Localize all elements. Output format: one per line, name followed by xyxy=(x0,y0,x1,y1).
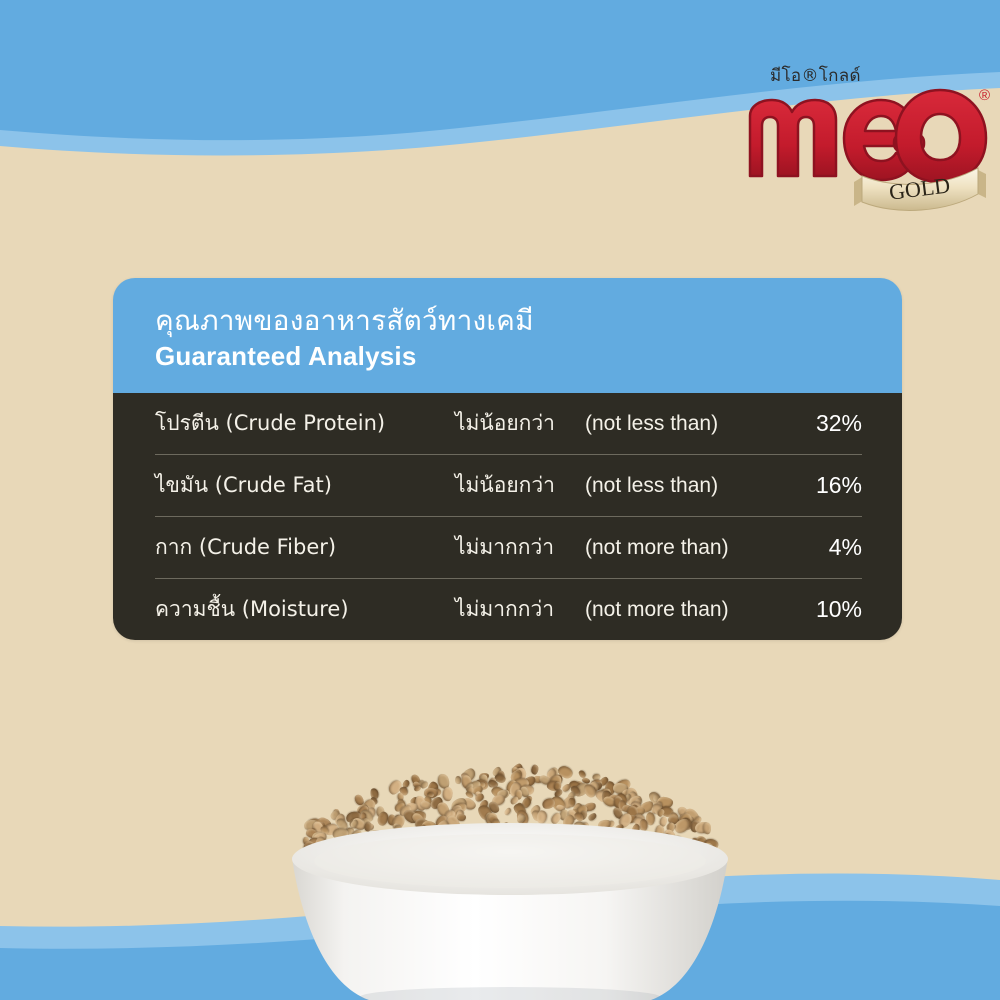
pet-food-bowl-image xyxy=(250,745,770,1000)
guaranteed-analysis-card: คุณภาพของอาหารสัตว์ทางเคมี Guaranteed An… xyxy=(113,278,902,640)
nutrient-name: ไขมัน (Crude Fat) xyxy=(155,469,455,502)
qualifier-thai: ไม่น้อยกว่า xyxy=(455,469,585,502)
nutrient-value: 16% xyxy=(782,472,862,499)
nutrient-name: กาก (Crude Fiber) xyxy=(155,531,455,564)
nutrient-value: 10% xyxy=(782,596,862,623)
nutrient-name: โปรตีน (Crude Protein) xyxy=(155,407,455,440)
nutrient-value: 32% xyxy=(782,410,862,437)
poster-canvas: มีโอ®โกลด์ ® xyxy=(0,0,1000,1000)
nutrient-name: ความชื้น (Moisture) xyxy=(155,593,455,626)
qualifier-thai: ไม่มากกว่า xyxy=(455,531,585,564)
registered-mark-icon: ® xyxy=(979,88,990,103)
nutrient-value: 4% xyxy=(782,534,862,561)
qualifier-thai: ไม่มากกว่า xyxy=(455,593,585,626)
product-photo xyxy=(250,745,770,1000)
qualifier-english: (not less than) xyxy=(585,474,782,498)
brand-logo: มีโอ®โกลด์ ® xyxy=(742,62,992,222)
qualifier-english: (not less than) xyxy=(585,412,782,436)
qualifier-english: (not more than) xyxy=(585,536,782,560)
card-title-thai: คุณภาพของอาหารสัตว์ทางเคมี xyxy=(155,304,902,338)
card-header: คุณภาพของอาหารสัตว์ทางเคมี Guaranteed An… xyxy=(113,278,902,393)
table-row: ความชื้น (Moisture) ไม่มากกว่า (not more… xyxy=(155,579,862,640)
table-row: ไขมัน (Crude Fat) ไม่น้อยกว่า (not less … xyxy=(155,455,862,517)
analysis-table: โปรตีน (Crude Protein) ไม่น้อยกว่า (not … xyxy=(113,393,902,640)
qualifier-thai: ไม่น้อยกว่า xyxy=(455,407,585,440)
card-title-english: Guaranteed Analysis xyxy=(155,340,902,372)
table-row: กาก (Crude Fiber) ไม่มากกว่า (not more t… xyxy=(155,517,862,579)
gold-ribbon-banner: GOLD xyxy=(850,160,990,218)
table-row: โปรตีน (Crude Protein) ไม่น้อยกว่า (not … xyxy=(155,393,862,455)
qualifier-english: (not more than) xyxy=(585,598,782,622)
